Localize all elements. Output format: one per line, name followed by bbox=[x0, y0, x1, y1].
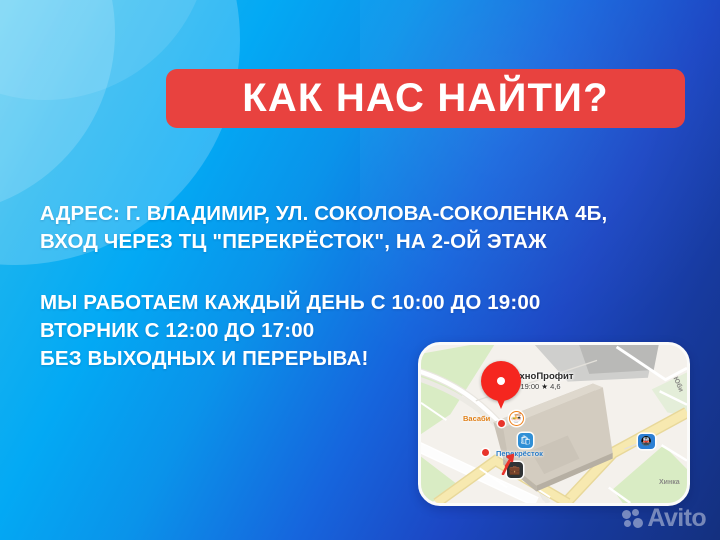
map-pin-icon[interactable] bbox=[481, 361, 521, 411]
poster-canvas: КАК НАС НАЙТИ? АДРЕС: Г. ВЛАДИМИР, УЛ. С… bbox=[0, 0, 720, 540]
title-banner: КАК НАС НАЙТИ? bbox=[166, 69, 685, 128]
address-block: АДРЕС: Г. ВЛАДИМИР, УЛ. СОКОЛОВА-СОКОЛЕН… bbox=[40, 200, 700, 256]
map-pin-tail bbox=[495, 395, 507, 409]
avito-watermark: Avito bbox=[622, 506, 706, 531]
map-base-layer bbox=[421, 345, 687, 503]
map-small-marker[interactable] bbox=[498, 420, 505, 427]
entrance-arrow-icon bbox=[500, 453, 516, 475]
street-name-hinka: Хинка bbox=[659, 479, 680, 486]
hours-line-1: МЫ РАБОТАЕМ КАЖДЫЙ ДЕНЬ С 10:00 ДО 19:00 bbox=[40, 289, 640, 317]
map-label-vasabi: Васаби bbox=[463, 414, 490, 423]
map-pin-center-dot bbox=[497, 377, 505, 385]
metro-icon[interactable]: 🚇 bbox=[638, 434, 655, 449]
page-title: КАК НАС НАЙТИ? bbox=[242, 78, 609, 118]
hours-line-2: ВТОРНИК С 12:00 ДО 17:00 bbox=[40, 317, 640, 345]
decorative-circle-medium bbox=[0, 0, 115, 215]
address-line-2: ВХОД ЧЕРЕЗ ТЦ "ПЕРЕКРЁСТОК", НА 2-ОЙ ЭТА… bbox=[40, 228, 700, 256]
star-icon: ★ bbox=[541, 382, 548, 391]
address-line-1: АДРЕС: Г. ВЛАДИМИР, УЛ. СОКОЛОВА-СОКОЛЕН… bbox=[40, 200, 700, 228]
avito-logo-icon bbox=[622, 509, 643, 529]
map-card[interactable]: ТехноПрофит До 19:00 ★ 4,6 🍜 Васаби 🛍 Пе… bbox=[418, 342, 690, 506]
restaurant-icon[interactable]: 🍜 bbox=[509, 411, 524, 426]
map-poi-rating: 4,6 bbox=[550, 382, 560, 391]
map-entrance-marker[interactable] bbox=[482, 449, 489, 456]
shop-icon[interactable]: 🛍 bbox=[518, 433, 533, 448]
avito-watermark-text: Avito bbox=[647, 506, 706, 531]
